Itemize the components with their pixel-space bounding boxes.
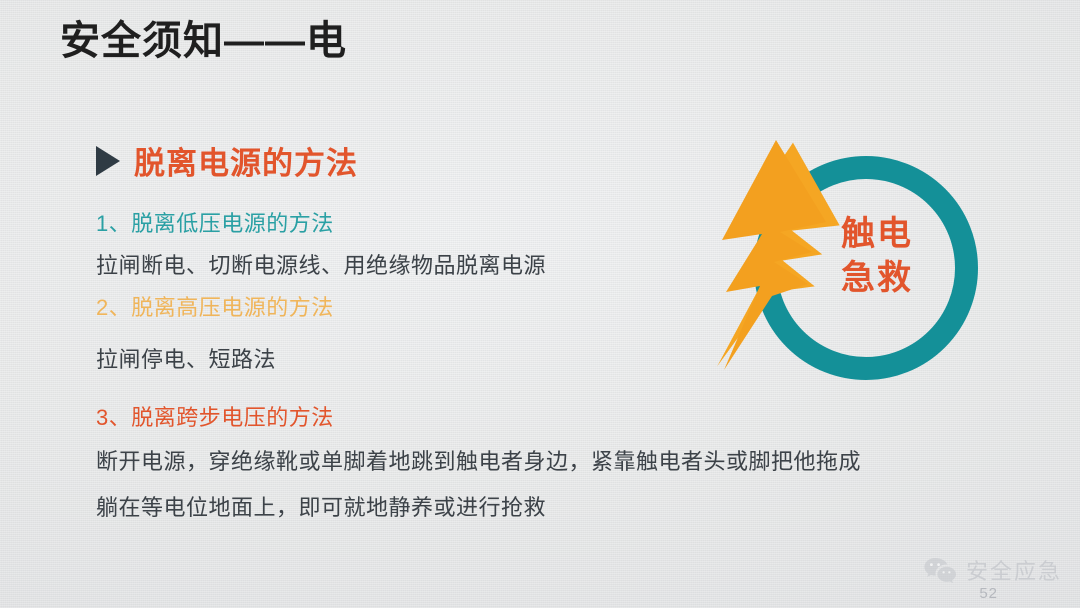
page-number: 52 <box>979 585 998 602</box>
triangle-right-icon <box>96 146 120 176</box>
list-item-body-3-line2: 躺在等电位地面上，即可就地静养或进行抢救 <box>96 485 996 531</box>
list-item-head-3: 3、脱离跨步电压的方法 <box>96 397 716 439</box>
graphic-label-line-1: 触电 <box>812 212 942 256</box>
watermark-text: 安全应急 <box>966 554 1062 586</box>
spacer <box>96 329 716 339</box>
watermark: 安全应急 <box>923 554 1062 586</box>
electric-shock-first-aid-graphic: 触电 急救 <box>716 140 966 390</box>
page-title: 安全须知——电 <box>60 16 347 66</box>
section-heading-label: 脱离电源的方法 <box>134 138 358 183</box>
graphic-label-line-2: 急救 <box>812 256 942 300</box>
list-item-head-1: 1、脱离低压电源的方法 <box>96 203 716 245</box>
content-list: 1、脱离低压电源的方法 拉闸断电、切断电源线、用绝缘物品脱离电源 2、脱离高压电… <box>96 203 716 531</box>
slide-canvas: 安全须知——电 脱离电源的方法 1、脱离低压电源的方法 拉闸断电、切断电源线、用… <box>0 0 1080 608</box>
list-item-body-2: 拉闸停电、短路法 <box>96 339 716 381</box>
wechat-icon <box>923 556 957 584</box>
graphic-label: 触电 急救 <box>812 212 942 300</box>
spacer <box>96 381 716 397</box>
list-item-body-3-line1: 断开电源，穿绝缘靴或单脚着地跳到触电者身边，紧靠触电者头或脚把他拖成 <box>96 439 996 485</box>
section-heading: 脱离电源的方法 <box>96 138 358 183</box>
list-item-body-1: 拉闸断电、切断电源线、用绝缘物品脱离电源 <box>96 245 716 287</box>
list-item-head-2: 2、脱离高压电源的方法 <box>96 287 716 329</box>
